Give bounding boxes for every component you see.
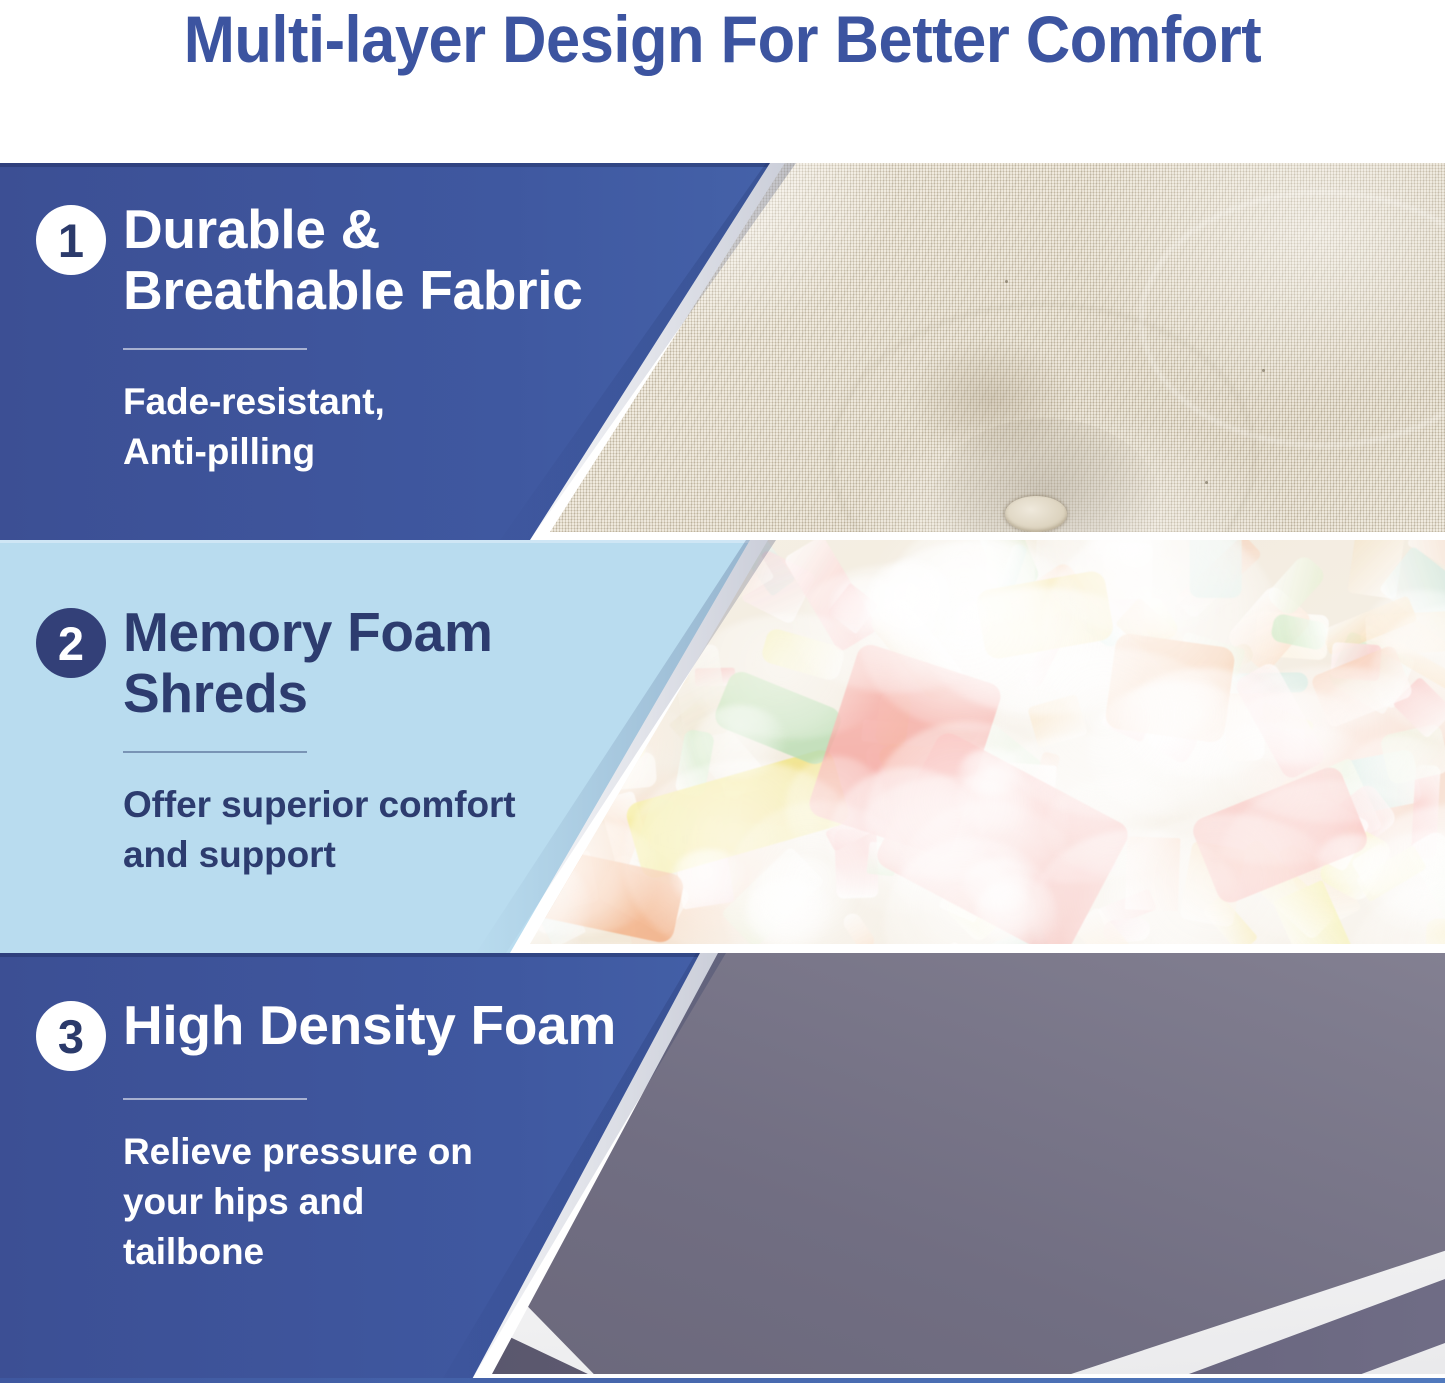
feature-panel-2: 2 Memory Foam Shreds Offer superior comf… [0,540,1445,953]
feature-panel-3: 3 High Density Foam Relieve pressure on … [0,953,1445,1383]
page-title: Multi-layer Design For Better Comfort [51,2,1395,76]
panel-2-title: Memory Foam Shreds [123,602,663,724]
fabric-speck-b [1262,369,1265,372]
panel-2-subtitle: Offer superior comfort and support [123,780,563,880]
panel-3-divider [123,1098,307,1100]
step-badge-1: 1 [36,205,106,275]
foam-chip [500,540,564,572]
panel-3-heading-row: 3 High Density Foam [36,995,616,1071]
panel-1-heading-row: 1 Durable & Breathable Fabric [36,199,663,321]
panel-3-content: 3 High Density Foam Relieve pressure on … [36,995,616,1277]
panel-2-content: 2 Memory Foam Shreds Offer superior comf… [36,602,663,880]
panel-1-title: Durable & Breathable Fabric [123,199,663,321]
fabric-speck-c [1005,280,1008,283]
fabric-speck-a [1205,481,1208,484]
fiberfill-puff [1316,834,1391,887]
fabric-tuft-button [1005,496,1067,532]
panel-1-subtitle: Fade-resistant, Anti-pilling [123,377,563,477]
fiberfill-puff [958,748,1027,796]
header: Multi-layer Design For Better Comfort [0,0,1445,163]
panel-1-divider [123,348,307,350]
panel-2-heading-row: 2 Memory Foam Shreds [36,602,663,724]
step-badge-2: 2 [36,608,106,678]
step-badge-3: 3 [36,1001,106,1071]
fiberfill-puff [745,878,832,949]
fiberfill-puff [517,542,590,597]
panel-3-subtitle: Relieve pressure on your hips and tailbo… [123,1127,563,1277]
panel-2-divider [123,751,307,753]
fiberfill-puff [980,875,1055,950]
panel-3-title: High Density Foam [123,995,616,1056]
footer-divider [0,1378,1445,1383]
panel-1-content: 1 Durable & Breathable Fabric Fade-resis… [36,199,663,477]
fiberfill-puff [935,593,996,653]
fiberfill-puff [693,705,787,779]
feature-panel-1: 1 Durable & Breathable Fabric Fade-resis… [0,163,1445,540]
